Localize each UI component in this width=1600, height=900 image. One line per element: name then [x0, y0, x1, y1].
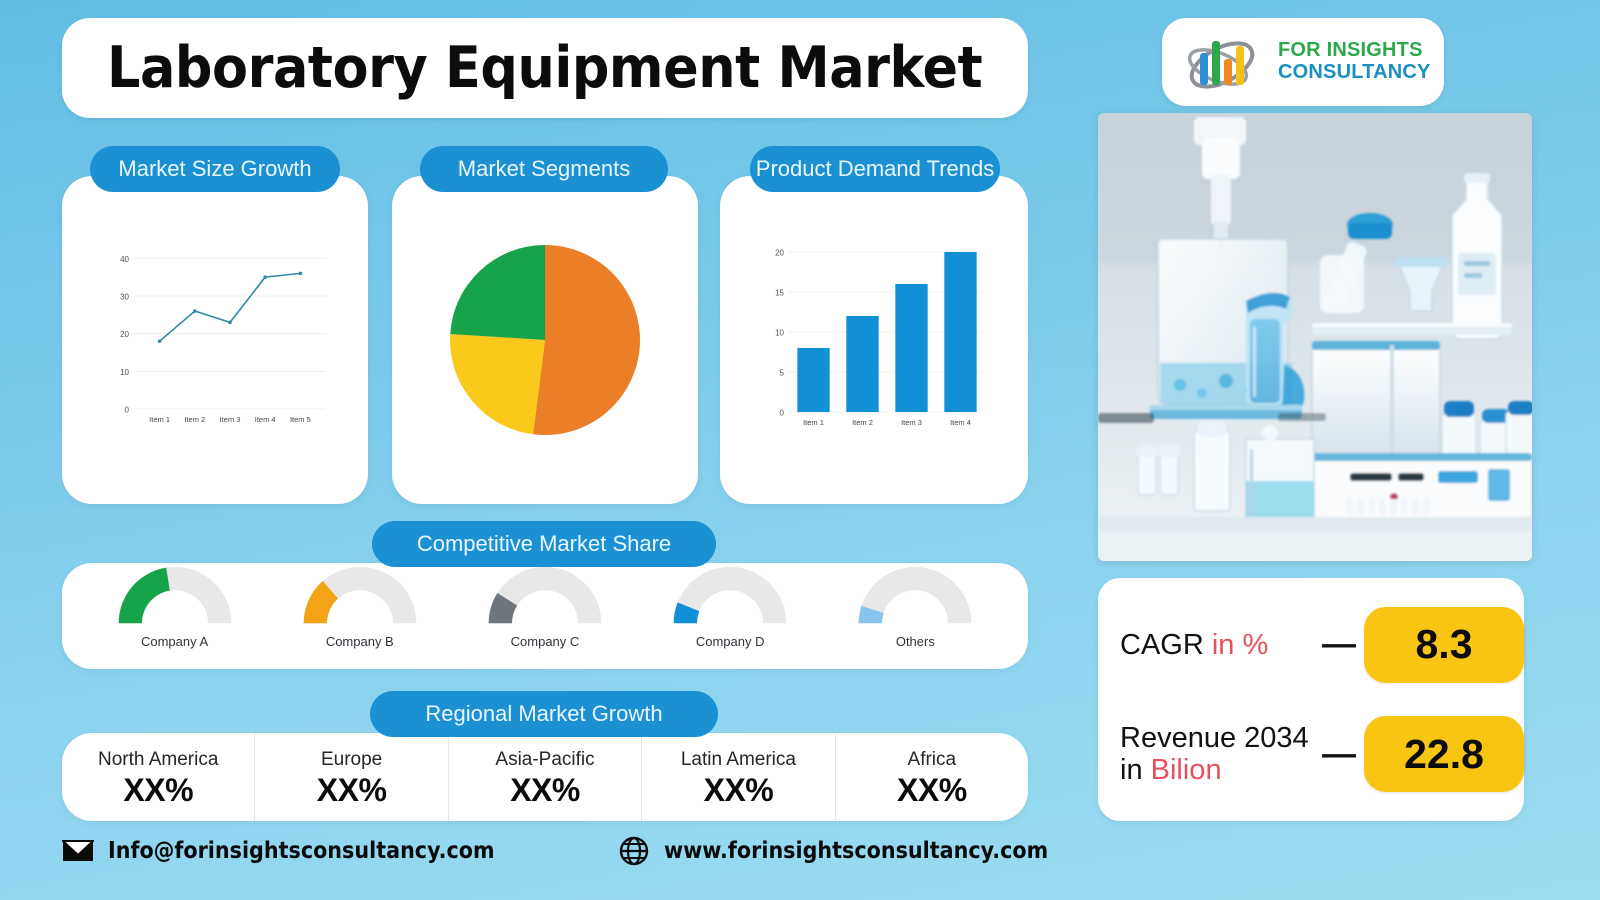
revenue-stat-row: Revenue 2034 in Bilion — 22.8: [1098, 708, 1524, 800]
gauge-label: Others: [896, 634, 935, 649]
revenue-dash: —: [1322, 735, 1356, 774]
svg-text:Item 3: Item 3: [901, 418, 922, 427]
svg-text:Item 1: Item 1: [803, 418, 824, 427]
gauge-fill: [118, 568, 169, 624]
footer-contact-bar: Info@forinsightsconsultancy.com www.fori…: [62, 835, 1090, 867]
brand-logo[interactable]: FOR INSIGHTS CONSULTANCY: [1162, 18, 1444, 106]
svg-text:Item 5: Item 5: [290, 415, 311, 424]
gauge-svg: [295, 563, 425, 631]
product-demand-trends-chart: 05101520Item 1Item 2Item 3Item 4: [720, 176, 1028, 504]
svg-text:5: 5: [779, 369, 784, 378]
gauge-label: Company A: [141, 634, 208, 649]
page-title-card: Laboratory Equipment Market: [62, 18, 1028, 118]
cagr-dash: —: [1322, 625, 1356, 664]
revenue-value: 22.8: [1364, 716, 1524, 792]
svg-text:0: 0: [125, 405, 130, 414]
section-pill-regional-growth: Regional Market Growth: [370, 691, 718, 737]
revenue-label: Revenue 2034 in Bilion: [1120, 722, 1322, 787]
brand-line-1: FOR INSIGHTS: [1278, 40, 1431, 62]
svg-text:Item 2: Item 2: [184, 415, 205, 424]
region-value: XX%: [317, 772, 387, 809]
region-value: XX%: [704, 772, 774, 809]
gauge-svg: [110, 563, 240, 631]
revenue-label-line1: Revenue 2034: [1120, 722, 1309, 754]
region-cell: North AmericaXX%: [62, 733, 255, 821]
regional-market-growth-card: North AmericaXX%EuropeXX%Asia-PacificXX%…: [62, 733, 1028, 821]
region-value: XX%: [897, 772, 967, 809]
cagr-label-red: in %: [1212, 629, 1268, 661]
svg-text:20: 20: [120, 330, 129, 339]
svg-text:Item 1: Item 1: [149, 415, 170, 424]
region-row: North AmericaXX%EuropeXX%Asia-PacificXX%…: [62, 733, 1028, 821]
gauge-svg: [665, 563, 795, 631]
region-cell: AfricaXX%: [836, 733, 1028, 821]
svg-text:30: 30: [120, 292, 129, 301]
revenue-label-line2-red: Bilion: [1151, 754, 1222, 786]
cagr-label: CAGR in %: [1120, 629, 1322, 661]
bar-chart-swoosh-logo-icon: [1174, 29, 1270, 95]
svg-text:Item 4: Item 4: [255, 415, 276, 424]
section-pill-product-demand: Product Demand Trends: [750, 146, 1000, 192]
footer-website-text: www.forinsightsconsultancy.com: [664, 838, 1048, 864]
pie-chart-svg: [445, 240, 645, 440]
key-stats-card: CAGR in % — 8.3 Revenue 2034 in Bilion —…: [1098, 578, 1524, 821]
market-segments-chart: [392, 176, 698, 504]
footer-website-item[interactable]: www.forinsightsconsultancy.com: [618, 835, 1091, 867]
gauge-item: Others: [840, 563, 990, 649]
section-pill-market-segments: Market Segments: [420, 146, 668, 192]
region-name: Asia-Pacific: [495, 749, 594, 771]
brand-line-2: CONSULTANCY: [1278, 62, 1431, 84]
section-pill-competitive-share: Competitive Market Share: [372, 521, 716, 567]
gauge-item: Company A: [100, 563, 250, 649]
svg-text:10: 10: [775, 329, 784, 338]
competitive-market-share-card: Company ACompany BCompany CCompany DOthe…: [62, 563, 1028, 669]
region-name: Africa: [908, 749, 957, 771]
lab-photo-illustration: [1098, 113, 1532, 561]
gauge-item: Company B: [285, 563, 435, 649]
svg-text:20: 20: [775, 249, 784, 258]
region-value: XX%: [123, 772, 193, 809]
svg-text:0: 0: [779, 409, 784, 418]
envelope-icon: [62, 835, 94, 867]
revenue-label-line2-black: in: [1120, 754, 1151, 786]
gauge-item: Company C: [470, 563, 620, 649]
svg-text:Item 4: Item 4: [950, 418, 971, 427]
market-size-growth-card: 010203040Item 1Item 2Item 3Item 4Item 5: [62, 176, 368, 504]
gauge-row: Company ACompany BCompany CCompany DOthe…: [62, 563, 1028, 669]
svg-text:15: 15: [775, 289, 784, 298]
svg-text:10: 10: [120, 367, 129, 376]
gauge-label: Company D: [696, 634, 765, 649]
region-name: Europe: [321, 749, 382, 771]
gauge-item: Company D: [655, 563, 805, 649]
product-demand-trends-card: 05101520Item 1Item 2Item 3Item 4: [720, 176, 1028, 504]
bar-chart-svg: 05101520Item 1Item 2Item 3Item 4: [757, 230, 992, 450]
footer-email-text: Info@forinsightsconsultancy.com: [108, 838, 495, 864]
page-title: Laboratory Equipment Market: [107, 35, 982, 101]
gauge-svg: [480, 563, 610, 631]
brand-logo-text: FOR INSIGHTS CONSULTANCY: [1278, 40, 1431, 83]
region-name: North America: [98, 749, 218, 771]
gauge-label: Company B: [326, 634, 394, 649]
gauge-label: Company C: [511, 634, 580, 649]
svg-text:Item 2: Item 2: [852, 418, 873, 427]
cagr-stat-row: CAGR in % — 8.3: [1098, 599, 1524, 691]
laboratory-equipment-photo: [1098, 113, 1532, 561]
footer-email-item[interactable]: Info@forinsightsconsultancy.com: [62, 835, 538, 867]
market-size-growth-chart: 010203040Item 1Item 2Item 3Item 4Item 5: [62, 176, 368, 504]
line-chart-svg: 010203040Item 1Item 2Item 3Item 4Item 5: [100, 233, 330, 448]
region-cell: Latin AmericaXX%: [642, 733, 835, 821]
globe-icon: [618, 835, 650, 867]
cagr-value: 8.3: [1364, 607, 1524, 683]
region-cell: EuropeXX%: [255, 733, 448, 821]
cagr-label-black: CAGR: [1120, 629, 1212, 661]
region-name: Latin America: [681, 749, 796, 771]
region-value: XX%: [510, 772, 580, 809]
gauge-svg: [850, 563, 980, 631]
svg-text:Item 3: Item 3: [220, 415, 241, 424]
region-cell: Asia-PacificXX%: [449, 733, 642, 821]
section-pill-market-size: Market Size Growth: [90, 146, 340, 192]
market-segments-card: [392, 176, 698, 504]
svg-text:40: 40: [120, 254, 129, 263]
